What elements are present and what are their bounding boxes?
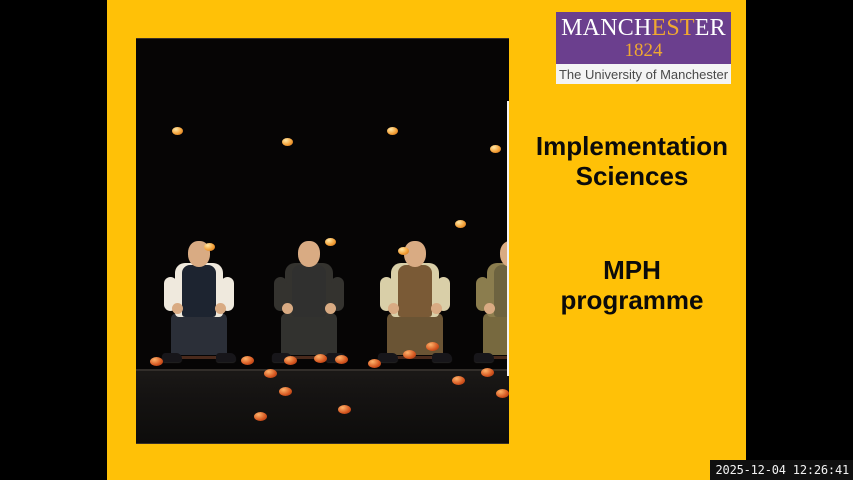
slide-heading-secondary-line2: programme bbox=[517, 286, 747, 316]
airborne-apple bbox=[325, 238, 336, 246]
floor-apple bbox=[314, 354, 327, 363]
floor-apple bbox=[335, 355, 348, 364]
performer-hand-left bbox=[282, 303, 293, 314]
logo-purple-box: MANCHESTER 1824 bbox=[556, 12, 731, 64]
floor-apple bbox=[150, 357, 163, 366]
performer-shoe-left bbox=[162, 353, 182, 362]
letterbox-left bbox=[0, 0, 107, 480]
performer-vest bbox=[292, 265, 326, 317]
slide-heading-secondary: MPH programme bbox=[517, 256, 747, 315]
slide-heading-primary-line2: Sciences bbox=[517, 162, 747, 192]
floor-apple bbox=[403, 350, 416, 359]
slide-heading-secondary-line1: MPH bbox=[517, 256, 747, 286]
logo-year: 1824 bbox=[625, 41, 663, 60]
performer-shoe-right bbox=[432, 353, 452, 362]
floor-apple bbox=[452, 376, 465, 385]
airborne-apple bbox=[282, 138, 293, 146]
logo-wordmark-part2: ES bbox=[651, 15, 679, 41]
performer-legs bbox=[281, 313, 337, 355]
video-caret-line[interactable] bbox=[507, 101, 509, 376]
airborne-apple bbox=[455, 220, 466, 228]
performer-head bbox=[298, 241, 320, 267]
performer-vest bbox=[398, 265, 432, 317]
performer-hand-right bbox=[431, 303, 442, 314]
performer-legs bbox=[171, 313, 227, 355]
logo-wordmark: MANCHESTER bbox=[561, 16, 726, 40]
airborne-apple bbox=[387, 127, 398, 135]
performer-figure bbox=[160, 241, 238, 371]
screen-root: MANCHESTER 1824 The University of Manche… bbox=[0, 0, 853, 480]
performer-figure bbox=[270, 241, 348, 371]
performer-hand-right bbox=[325, 303, 336, 314]
logo-tagline: The University of Manchester bbox=[556, 64, 731, 84]
floor-apple bbox=[241, 356, 254, 365]
floor-apple bbox=[264, 369, 277, 378]
floor-apple bbox=[426, 342, 439, 351]
performance-video-panel[interactable] bbox=[136, 38, 509, 444]
floor-apple bbox=[496, 389, 509, 398]
floor-apple bbox=[284, 356, 297, 365]
performer-legs bbox=[483, 313, 509, 355]
logo-wordmark-part3: T bbox=[680, 15, 695, 41]
performer-shoe-left bbox=[474, 353, 494, 362]
performer-hand-right bbox=[215, 303, 226, 314]
slide-heading-primary-line1: Implementation bbox=[517, 132, 747, 162]
floor-apple bbox=[338, 405, 351, 414]
performer-shoe-left bbox=[378, 353, 398, 362]
floor-apple bbox=[481, 368, 494, 377]
letterbox-right bbox=[746, 0, 853, 480]
performer-figure bbox=[472, 241, 509, 371]
airborne-apple bbox=[172, 127, 183, 135]
performer-hand-left bbox=[484, 303, 495, 314]
floor-apple bbox=[279, 387, 292, 396]
logo-wordmark-part4: ER bbox=[695, 15, 726, 41]
logo-wordmark-part1: MANCH bbox=[561, 15, 651, 41]
floor-apple bbox=[368, 359, 381, 368]
airborne-apple bbox=[490, 145, 501, 153]
floor-apple bbox=[254, 412, 267, 421]
university-of-manchester-logo: MANCHESTER 1824 The University of Manche… bbox=[556, 12, 731, 92]
airborne-apple bbox=[204, 243, 215, 251]
performer-head bbox=[404, 241, 426, 267]
performer-hand-left bbox=[172, 303, 183, 314]
airborne-apple bbox=[398, 247, 409, 255]
slide-heading-primary: Implementation Sciences bbox=[517, 132, 747, 191]
recording-timestamp: 2025-12-04 12:26:41 bbox=[710, 460, 853, 480]
performer-shoe-right bbox=[216, 353, 236, 362]
performer-hand-left bbox=[388, 303, 399, 314]
performer-vest bbox=[182, 265, 216, 317]
